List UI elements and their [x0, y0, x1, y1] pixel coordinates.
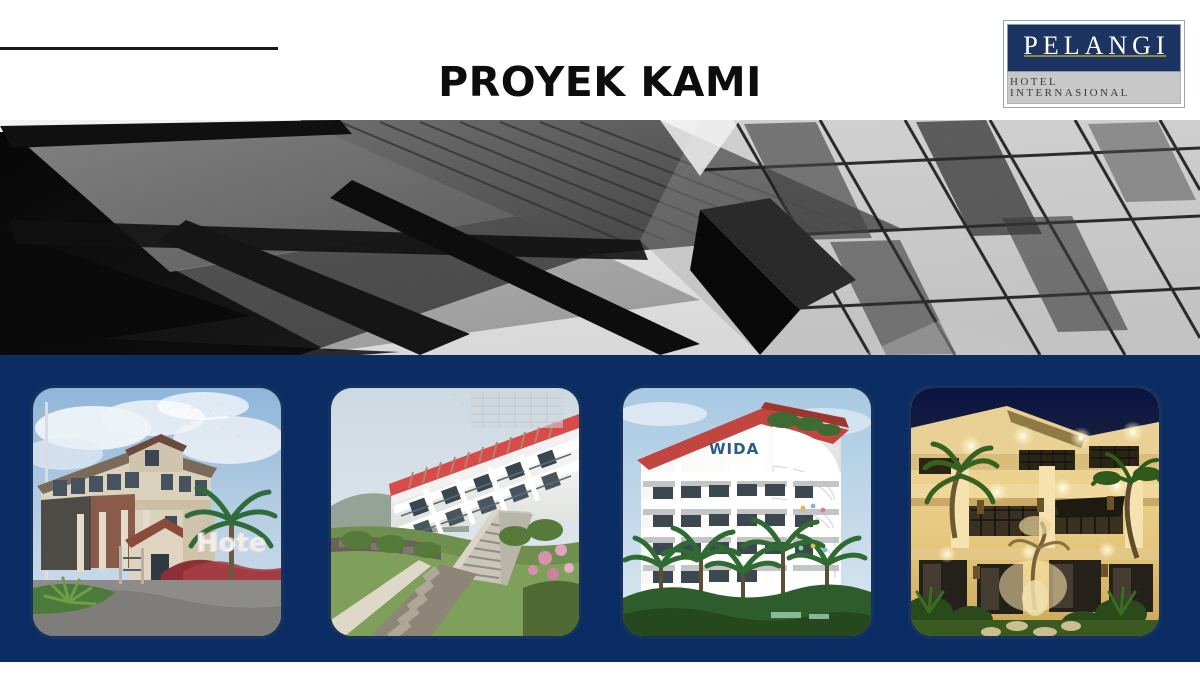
project-card-3[interactable]: WIDA	[620, 385, 874, 639]
logo-brand-plate: PELANGI	[1007, 24, 1181, 72]
project-card-4[interactable]	[908, 385, 1162, 639]
slide-root: PROYEK KAMI PELANGI HOTEL INTERNASIONAL	[0, 0, 1200, 676]
header-accent-rule	[0, 47, 278, 50]
card3-sign-text: WIDA	[709, 440, 759, 458]
logo-brand-underline	[1024, 55, 1166, 57]
logo-tagline-plate: HOTEL INTERNASIONAL	[1007, 72, 1181, 104]
slide-bottom-strip	[0, 662, 1200, 676]
project-gallery: Hote Hote	[0, 355, 1200, 662]
project-card-2[interactable]	[328, 385, 582, 639]
slide-header: PROYEK KAMI PELANGI HOTEL INTERNASIONAL	[0, 0, 1200, 120]
banner-photo	[0, 120, 1200, 355]
logo-inner: PELANGI HOTEL INTERNASIONAL	[1007, 24, 1181, 104]
logo-tagline-text: HOTEL INTERNASIONAL	[1008, 77, 1180, 99]
pelangi-logo: PELANGI HOTEL INTERNASIONAL	[1003, 20, 1185, 108]
svg-text:Hote: Hote	[197, 528, 267, 558]
project-card-1[interactable]: Hote Hote	[30, 385, 284, 639]
